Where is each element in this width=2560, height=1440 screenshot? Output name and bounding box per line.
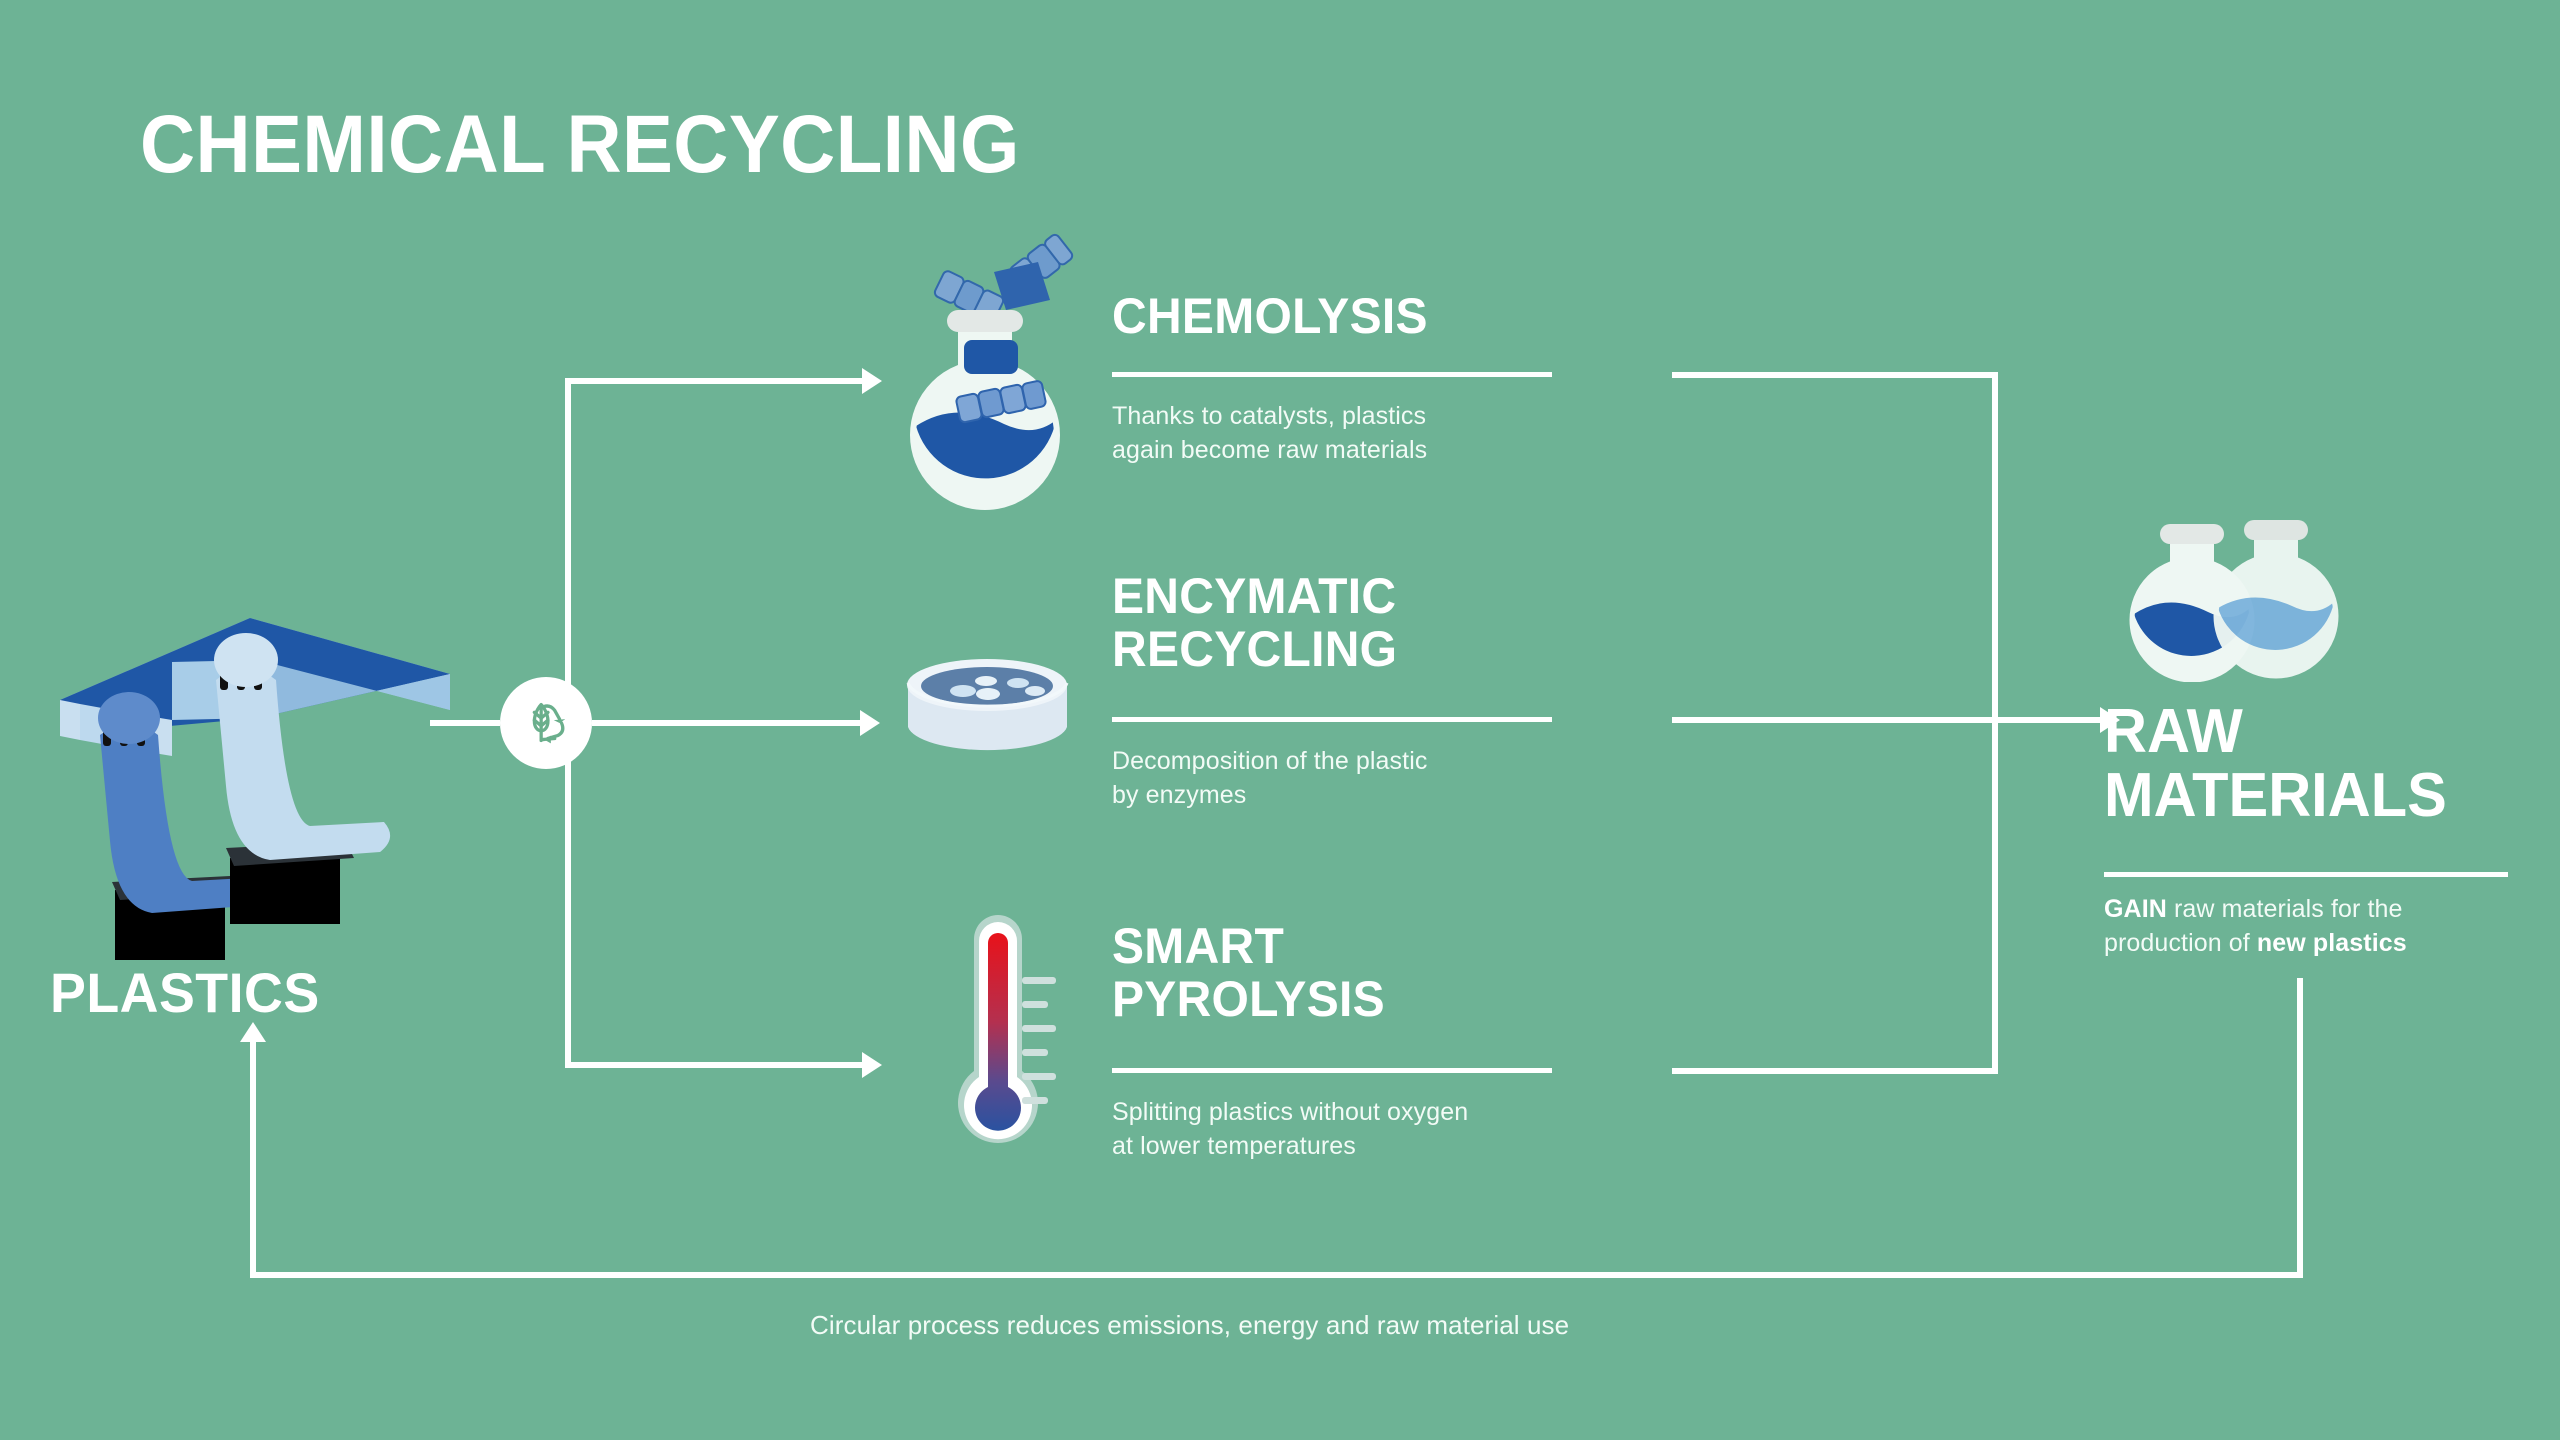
smart-pyrolysis-description: Splitting plastics without oxygen at low… (1112, 1096, 1468, 1164)
encymatic-recycling-heading: ENCYMATIC RECYCLING (1112, 570, 1397, 675)
raw-materials-description: GAIN raw materials for the production of… (2104, 893, 2494, 961)
connector-collector-spine (1992, 372, 1998, 1074)
connector-hub-row2 (592, 720, 862, 726)
thermometer-icon (940, 905, 1070, 1170)
infographic-canvas: CHEMICAL RECYCLING (0, 0, 2560, 1440)
two-flasks-icon (2100, 492, 2360, 682)
smart-pyrolysis-rule (1112, 1068, 1552, 1073)
arrowhead-to-chemolysis (862, 368, 882, 394)
connector-to-chemolysis (565, 378, 865, 384)
connector-chemolysis-out (1672, 372, 1998, 378)
connector-loop-left-vertical (250, 1040, 256, 1276)
connector-to-pyrolysis (565, 1062, 865, 1068)
chemolysis-description: Thanks to catalysts, plastics again beco… (1112, 400, 1427, 468)
chemolysis-rule (1112, 372, 1552, 377)
flask-with-polymer-chains-icon (890, 230, 1080, 530)
connector-branch-spine (565, 378, 571, 1068)
page-title: CHEMICAL RECYCLING (140, 104, 1020, 186)
connector-loop-bottom (250, 1272, 2303, 1278)
car-interior-icon (40, 600, 470, 980)
petri-dish-icon (900, 655, 1075, 765)
connector-collector-to-output (1992, 717, 2104, 723)
plastics-label: PLASTICS (50, 960, 320, 1025)
raw-materials-rule (2104, 872, 2508, 877)
encymatic-recycling-rule (1112, 717, 1552, 722)
encymatic-recycling-description: Decomposition of the plastic by enzymes (1112, 745, 1427, 813)
arrowhead-to-encymatic (860, 710, 880, 736)
arrowhead-to-pyrolysis (862, 1052, 882, 1078)
connector-encymatic-out (1672, 717, 1998, 723)
recycling-leaf-icon (500, 677, 592, 769)
connector-plastics-to-hub (430, 720, 500, 726)
chemolysis-heading: CHEMOLYSIS (1112, 290, 1428, 343)
smart-pyrolysis-heading: SMART PYROLYSIS (1112, 920, 1385, 1025)
footer-note: Circular process reduces emissions, ener… (810, 1310, 1569, 1341)
connector-loop-right-vertical (2297, 978, 2303, 1278)
raw-materials-heading: RAW MATERIALS (2104, 700, 2447, 829)
connector-pyrolysis-out (1672, 1068, 1998, 1074)
arrowhead-to-plastics (240, 1022, 266, 1042)
